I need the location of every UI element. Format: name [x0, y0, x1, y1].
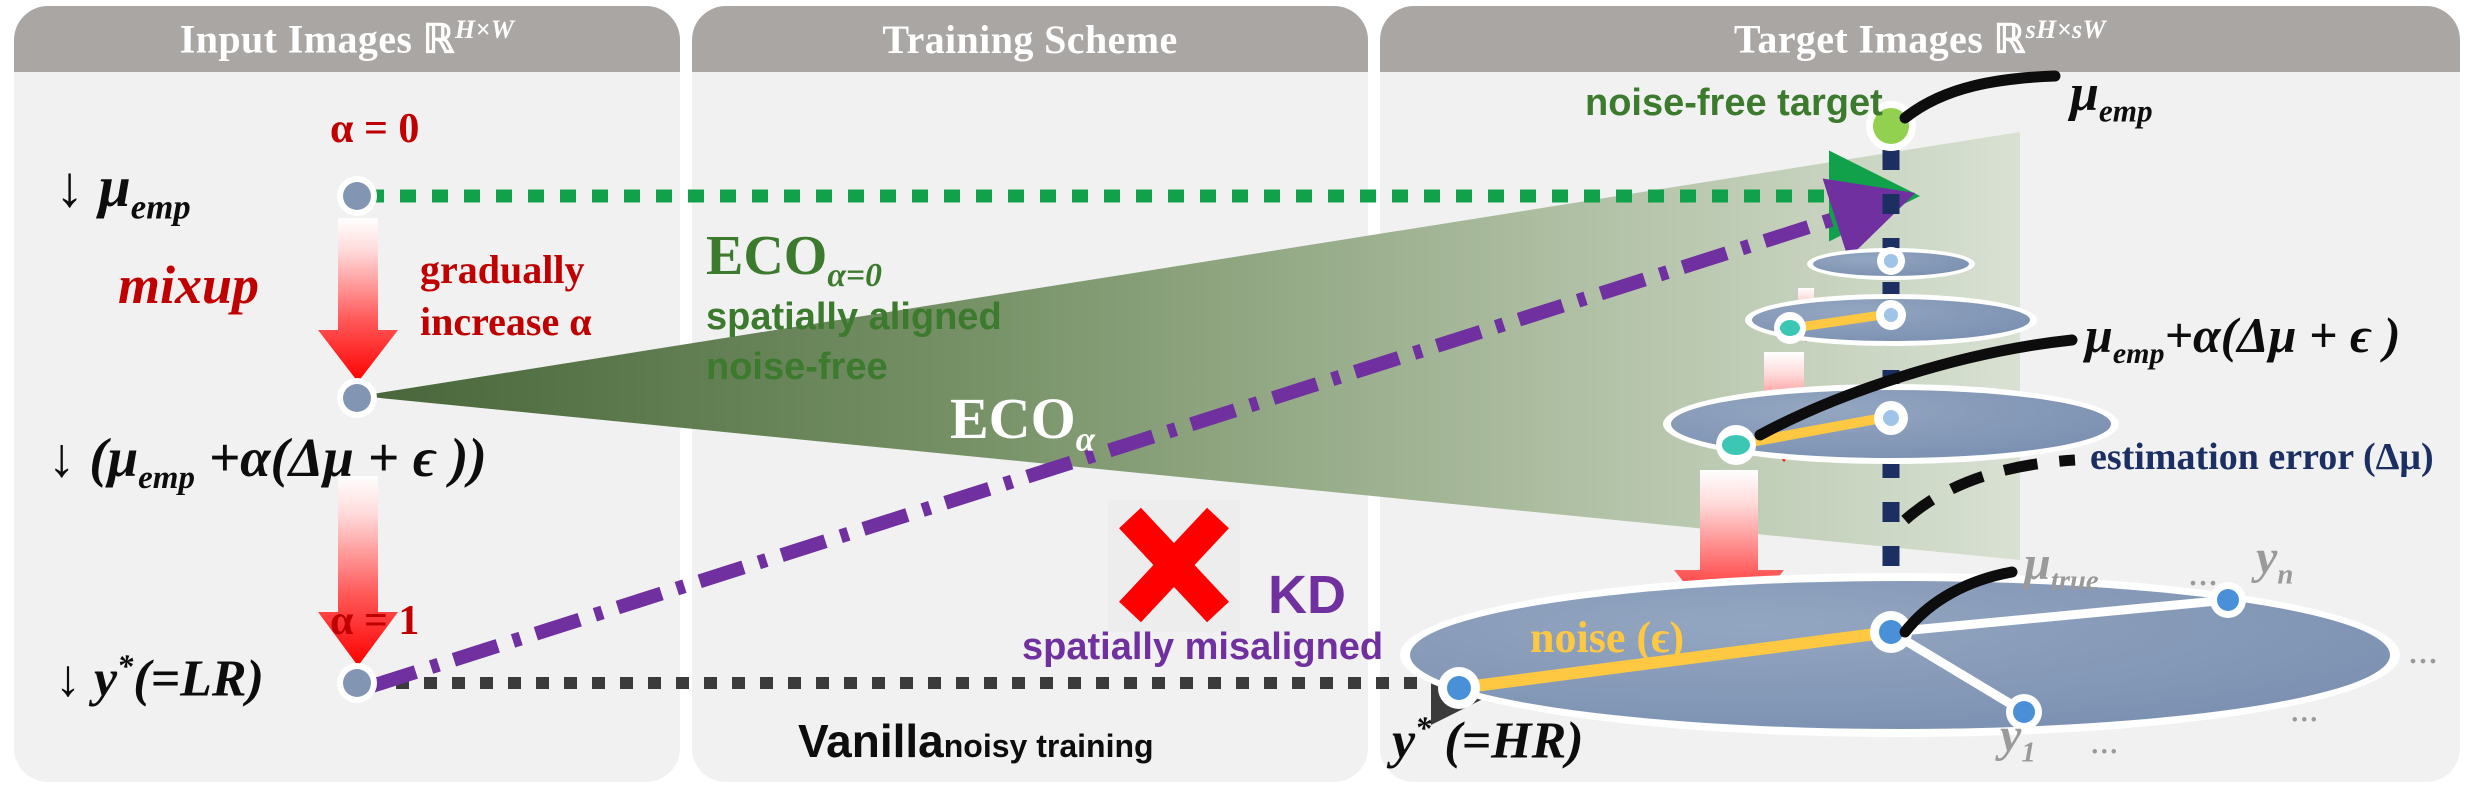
label-kd: KD — [1268, 568, 1346, 622]
label-ellipsis-top: ... — [2188, 552, 2218, 592]
kd-cross-icon — [1108, 500, 1240, 632]
label-eco-spatially-aligned: spatially aligned — [706, 298, 1002, 336]
label-mu-true: μtrue — [2024, 540, 2099, 595]
label-alpha-0: α = 0 — [330, 108, 419, 150]
leader-mu-emp — [1905, 76, 2055, 118]
label-kd-spatially-misaligned: spatially misaligned — [1022, 628, 1383, 666]
label-eco-alpha0: ECOα=0 — [706, 228, 882, 293]
label-y-star-hr: y* (=HR) — [1392, 712, 1584, 767]
target-disc-large — [1663, 384, 2119, 465]
label-y-n: yn — [2256, 534, 2293, 589]
label-ellipsis-right: ... — [2408, 630, 2438, 670]
label-y-star-lr: ↓ y*(=LR) — [55, 650, 264, 705]
label-noise-epsilon: noise (ϵ) — [1530, 616, 1684, 660]
label-mixed-target: ↓ (μemp +α(Δμ + ϵ )) — [48, 430, 487, 495]
label-noise-free-target: noise-free target — [1585, 84, 1883, 122]
label-vanilla: Vanillanoisy training — [798, 718, 1154, 764]
label-ellipsis-lower-right: ... — [2290, 690, 2319, 728]
label-ellipsis-bottom: ... — [2090, 722, 2119, 760]
label-mu-emp-right: μemp — [2070, 68, 2153, 127]
label-mixup: mixup — [118, 258, 259, 312]
label-alpha-1: α = 1 — [330, 600, 419, 642]
label-mu-emp-alpha-right: μemp+α(Δμ + ϵ ) — [2085, 310, 2401, 369]
label-increase-alpha: increase α — [420, 302, 592, 342]
node-alpha-1 — [337, 663, 377, 703]
target-disc-medium — [1745, 294, 2037, 346]
diagram-root: Input Images ℝH×W Training Scheme Target… — [0, 0, 2473, 788]
mixup-arrow-top — [318, 218, 398, 382]
label-y-1: y1 — [2000, 712, 2036, 767]
label-eco-alpha: ECOα — [950, 390, 1095, 457]
eco-funnel — [360, 132, 2020, 560]
node-alpha-0 — [337, 176, 377, 216]
node-alpha-mid — [337, 378, 377, 418]
label-mu-emp: ↓ μemp — [55, 158, 191, 225]
label-estimation-error: estimation error (Δμ) — [2090, 438, 2434, 476]
label-eco-noise-free: noise-free — [706, 348, 888, 386]
label-gradually: gradually — [420, 250, 584, 290]
